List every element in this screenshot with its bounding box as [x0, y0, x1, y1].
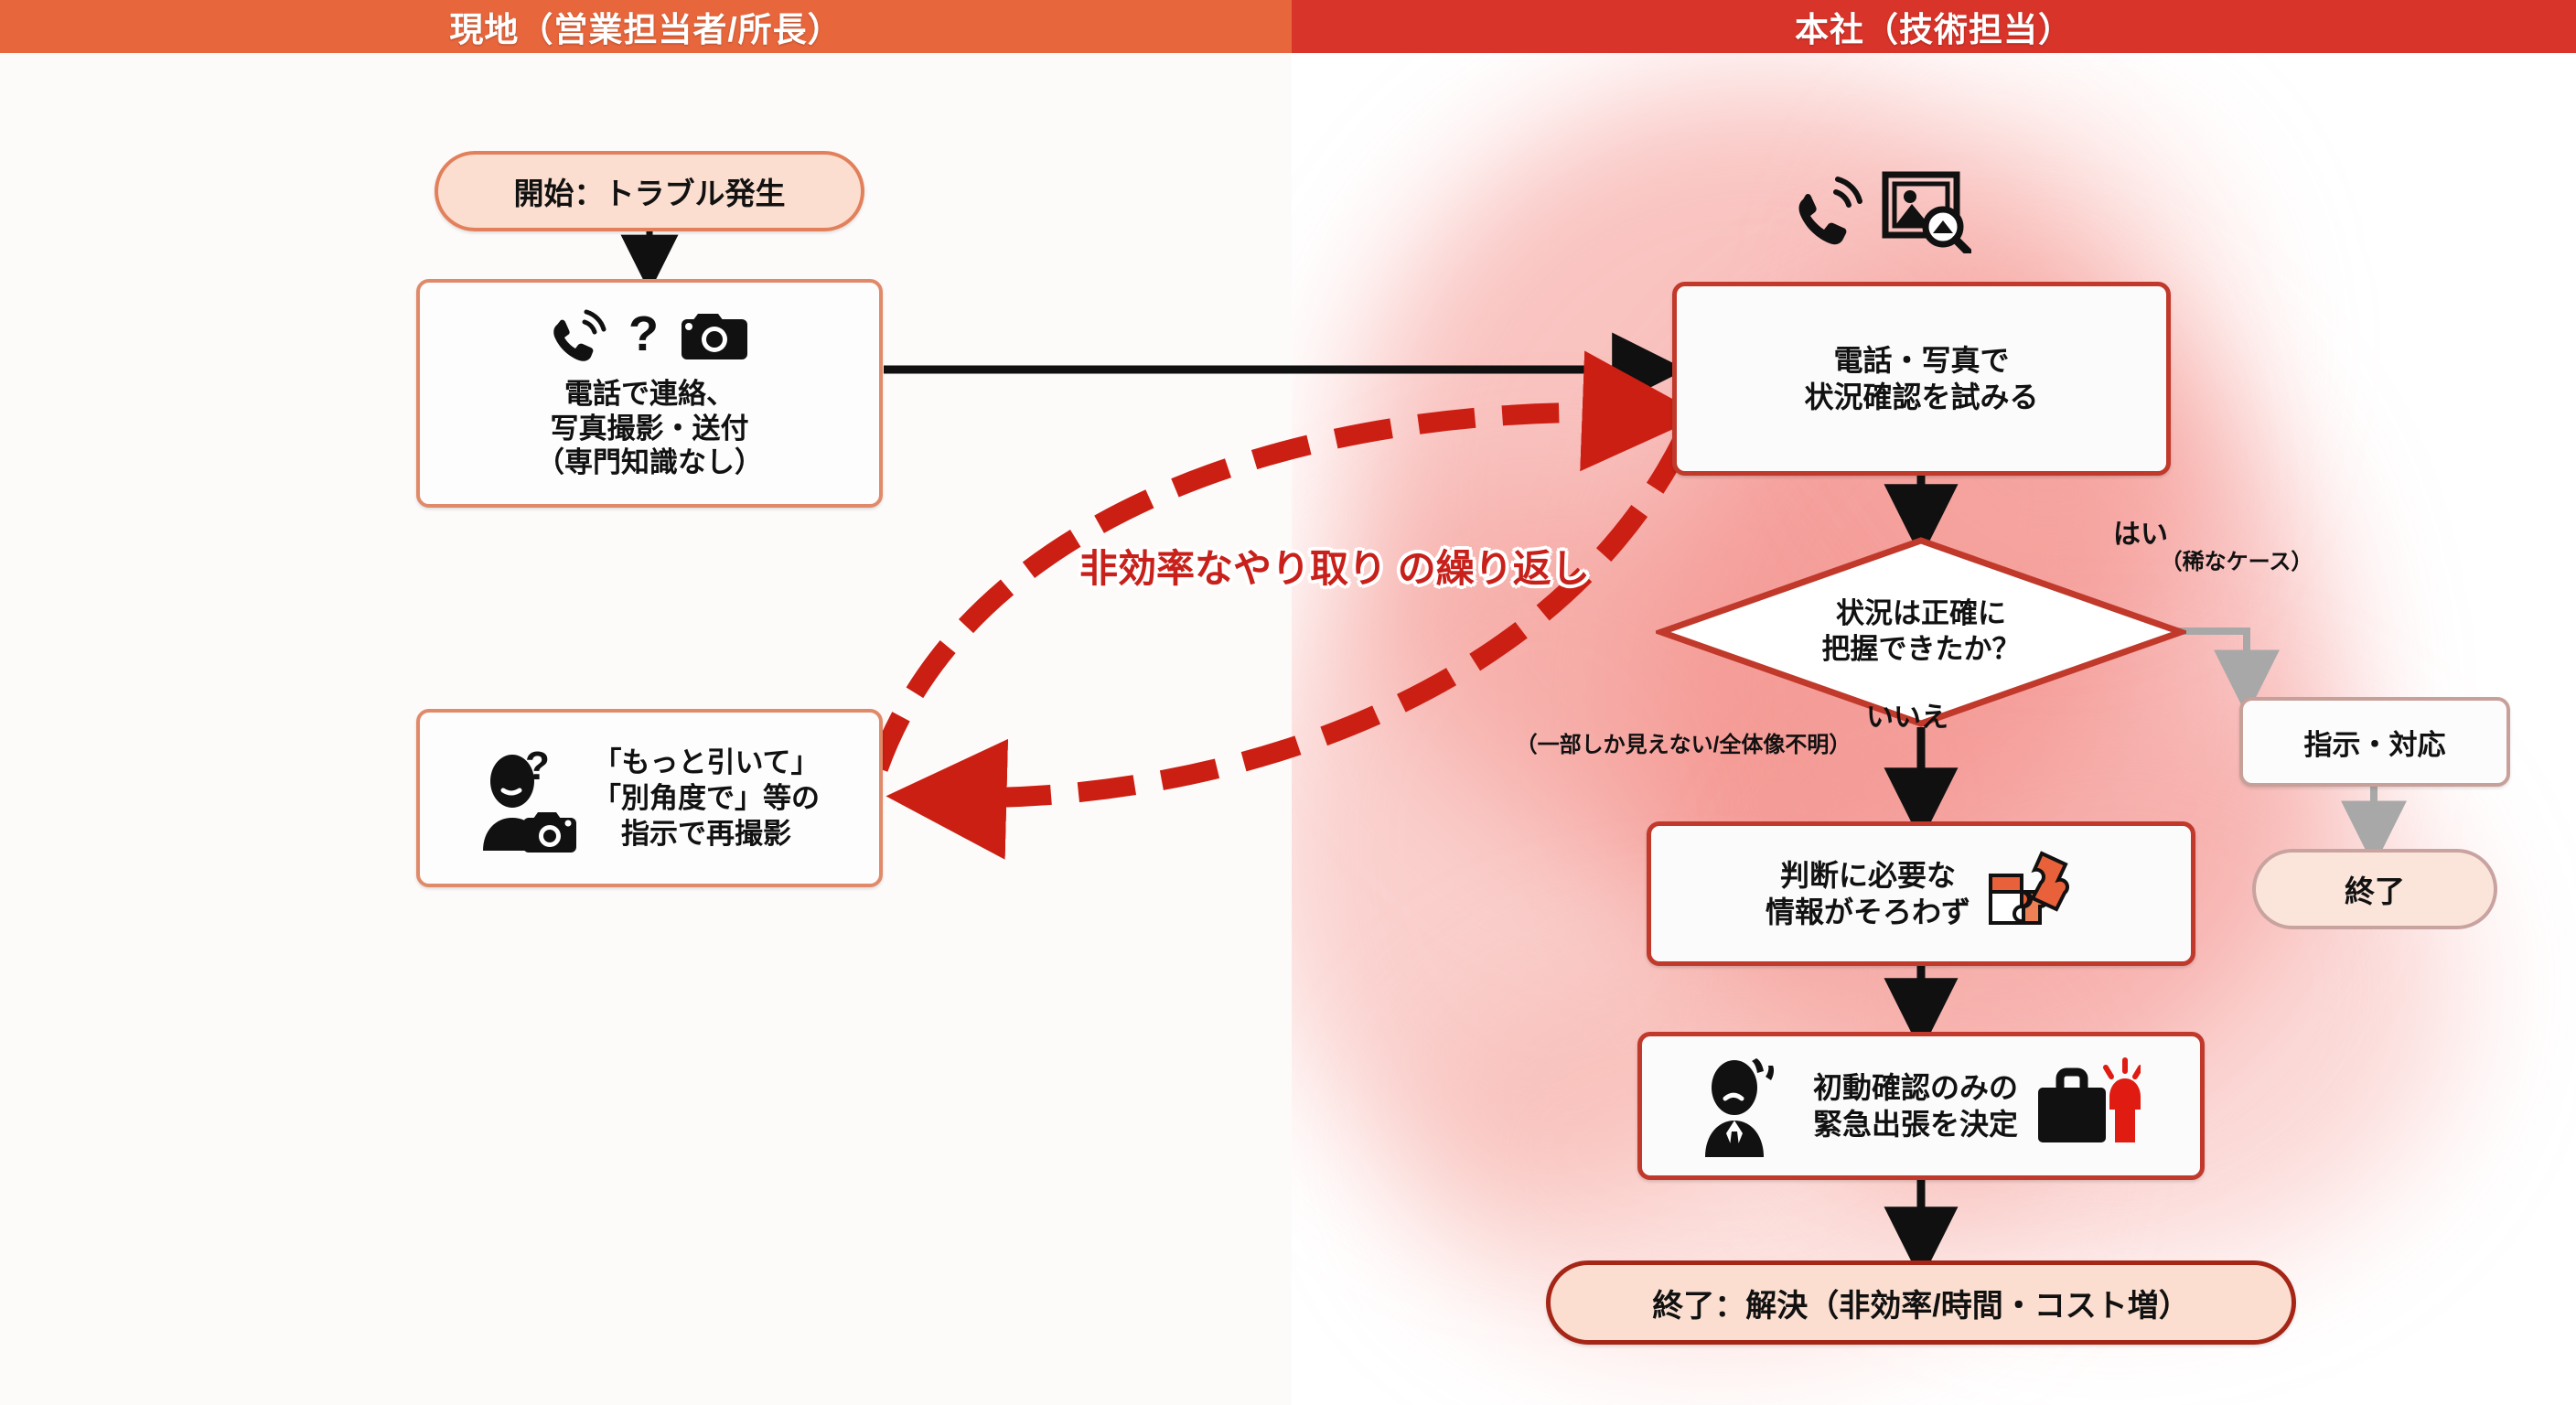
stressed-businessman-icon [1701, 1053, 1797, 1159]
edge-label-no-big: いいえ [1400, 702, 1967, 733]
node-contact-line2: 写真撮影・送付 [551, 412, 749, 446]
inefficiency-loop-edges [0, 0, 2576, 1405]
briefcase-alarm-icon [2034, 1055, 2141, 1157]
node-contact-line1: 電話で連絡、 [564, 377, 735, 412]
node-contact-photo[interactable]: ? 電話で連絡、 写真撮影・送付 （専門知識なし） [416, 279, 883, 508]
contact-icons-row: ? [544, 306, 755, 371]
node-missing-info-line2: 情報がそろわず [1766, 894, 1970, 930]
alarm-light-icon [2106, 1060, 2141, 1142]
edge-label-no: いいえ （一部しか見えない/全体像不明） [1400, 702, 1967, 758]
question-mark-icon: ? [628, 306, 659, 361]
node-rephoto[interactable]: ? 「もっと引いて」 「別角度で」等の 指示で再撮影 [416, 709, 883, 887]
loop-caption-line1: 非効率なやり取り [1079, 547, 1387, 590]
node-rephoto-line1: 「もっと引いて」 [593, 745, 819, 780]
node-urgent-trip-line2: 緊急出張を決定 [1813, 1106, 2018, 1142]
photo-magnifier-icon [1880, 169, 1971, 253]
node-contact-line3: （専門知識なし） [536, 445, 763, 480]
node-end-resolved-label: 終了：解決（非効率/時間・コスト増） [1652, 1281, 2189, 1325]
camera-icon [682, 314, 747, 359]
phone-ringing-icon [1788, 172, 1871, 251]
loop-caption-line2: の繰り返し [1398, 547, 1590, 590]
node-decision-line1: 状況は正確に [1822, 596, 2021, 632]
node-attempt-line2: 状況確認を試みる [1804, 379, 2038, 415]
node-attempt-check[interactable]: 電話・写真で 状況確認を試みる [1672, 282, 2171, 476]
edge-label-yes-small: （稀なケース） [2104, 550, 2369, 575]
node-end-simple-label: 終了 [2345, 867, 2405, 911]
node-rephoto-line2: 「別角度で」等の [593, 780, 820, 816]
node-attempt-line1: 電話・写真で [1833, 342, 2009, 379]
node-urgent-trip[interactable]: 初動確認のみの 緊急出張を決定 [1637, 1032, 2205, 1180]
right-top-icons [1788, 169, 1971, 253]
node-end-simple[interactable]: 終了 [2252, 849, 2497, 929]
node-end-resolved[interactable]: 終了：解決（非効率/時間・コスト増） [1546, 1260, 2296, 1345]
node-decision-line2: 把握できたか？ [1822, 632, 2021, 668]
confused-person-icon: ? [479, 739, 580, 858]
phone-ringing-icon [553, 312, 604, 361]
node-start[interactable]: 開始：トラブル発生 [435, 151, 864, 231]
node-urgent-trip-line1: 初動確認のみの [1813, 1069, 2018, 1106]
briefcase-icon [2038, 1072, 2106, 1142]
node-instruct-respond[interactable]: 指示・対応 [2239, 697, 2510, 787]
edge-label-yes-big: はい [2104, 520, 2369, 550]
svg-text:?: ? [628, 306, 659, 361]
edge-label-no-small: （一部しか見えない/全体像不明） [1400, 733, 1967, 758]
puzzle-pieces-icon [1983, 844, 2077, 943]
node-start-label: 開始：トラブル発生 [514, 169, 786, 213]
node-instruct-respond-label: 指示・対応 [2304, 722, 2446, 763]
loop-caption: 非効率なやり取り の繰り返し [1079, 545, 1590, 594]
flowchart-canvas: 現地（営業担当者/所長） 本社（技術担当） [0, 0, 2576, 1405]
node-missing-info[interactable]: 判断に必要な 情報がそろわず [1647, 821, 2195, 966]
node-missing-info-line1: 判断に必要な [1780, 857, 1956, 894]
edge-label-yes: はい （稀なケース） [2104, 520, 2369, 575]
node-rephoto-line3: 指示で再撮影 [621, 816, 791, 852]
